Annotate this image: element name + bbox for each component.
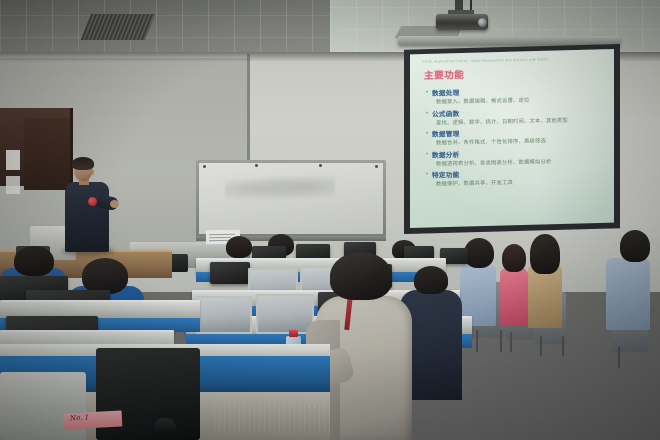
chair-leg (540, 336, 542, 356)
chair-leg (476, 330, 478, 352)
keyboard[interactable] (214, 404, 332, 434)
slide-section: 数据管理 数据合并、条件格式、个性化排序、高级筛选 (426, 125, 604, 146)
chair-leg (510, 332, 512, 352)
whiteboard-erased-marks (225, 176, 335, 202)
glasses-icon (102, 280, 124, 285)
attendee-torso (606, 258, 650, 330)
presenter-hair (72, 157, 94, 170)
wall-notice (6, 176, 20, 194)
presenter-ear (90, 169, 94, 175)
attendee-hair (502, 244, 526, 272)
foreground-student-hair (330, 252, 392, 300)
cabinet-edge (70, 108, 73, 188)
presentation-slide: EXCEL Application Course · Data Manageme… (422, 56, 604, 219)
attendee-hair (464, 238, 494, 268)
paper-line (209, 234, 235, 235)
wooden-cabinet-door (24, 118, 72, 190)
student-hair (14, 246, 54, 276)
attendee-hair (530, 234, 560, 274)
chair-leg (618, 346, 620, 368)
whiteboard-screw (203, 165, 206, 168)
monitor (0, 372, 86, 440)
paper-line (209, 237, 231, 238)
slide-section: 公式函数 查找、逻辑、数学、统计、日期时间、文本、其他类型 (426, 105, 604, 126)
monitor (210, 262, 250, 284)
attendee-hair (620, 230, 650, 262)
classroom-photo: EXCEL Application Course · Data Manageme… (0, 0, 660, 440)
student-hair (414, 266, 448, 294)
student-hair (82, 258, 128, 294)
whiteboard-screw (319, 164, 322, 167)
chair-leg (562, 336, 564, 356)
slide-section: 数据处理 数据录入、数据编辑、格式设置、定位 (426, 84, 604, 105)
student-head (226, 236, 252, 258)
projection-screen: EXCEL Application Course · Data Manageme… (410, 49, 614, 228)
bottle-cap (289, 330, 298, 337)
whiteboard-screw (255, 164, 258, 167)
screen-roller-bar (398, 36, 620, 45)
slide-section: 特定功能 数据保护、数据共享、开发工具 (426, 166, 604, 187)
chair-leg (500, 330, 502, 352)
mouse[interactable] (154, 418, 176, 434)
whiteboard-screw (375, 165, 378, 168)
pink-desk-label-text: No. 1 (70, 414, 90, 423)
wall-notice (6, 150, 20, 170)
projector-lens-icon (478, 18, 487, 27)
glasses-icon (546, 244, 558, 248)
monitor-screen (256, 294, 314, 334)
slide-title: 主要功能 (424, 64, 604, 81)
slide-section: 数据分析 数据透视表分析、各类图表分析、数据模拟分析 (426, 146, 604, 167)
presenter-torso (65, 182, 109, 252)
monitor-screen (196, 296, 252, 334)
presenter-shirt-logo (88, 197, 97, 206)
presenter-hand (110, 200, 119, 208)
ceiling-vent-icon (81, 14, 156, 40)
attendee-torso (500, 268, 528, 326)
